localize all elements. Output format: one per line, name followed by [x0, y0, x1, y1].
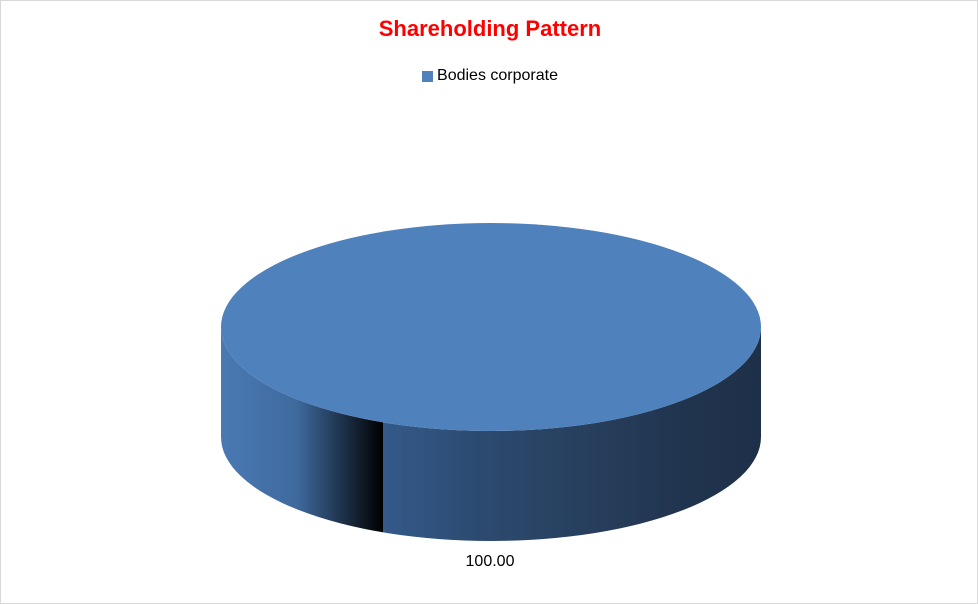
legend-item-bodies-corporate[interactable]: Bodies corporate [422, 67, 558, 85]
chart-title: Shareholding Pattern [1, 16, 978, 42]
legend-item-label: Bodies corporate [437, 67, 558, 85]
chart-container: Shareholding Pattern Bodies corporate [0, 0, 978, 604]
pie-data-label: 100.00 [1, 553, 978, 571]
pie-graphic [221, 219, 761, 549]
chart-legend: Bodies corporate [1, 67, 978, 85]
pie-slice-top-bodies-corporate[interactable] [221, 223, 761, 431]
legend-square-marker-icon [422, 71, 433, 82]
pie-chart-3d[interactable] [221, 219, 761, 549]
